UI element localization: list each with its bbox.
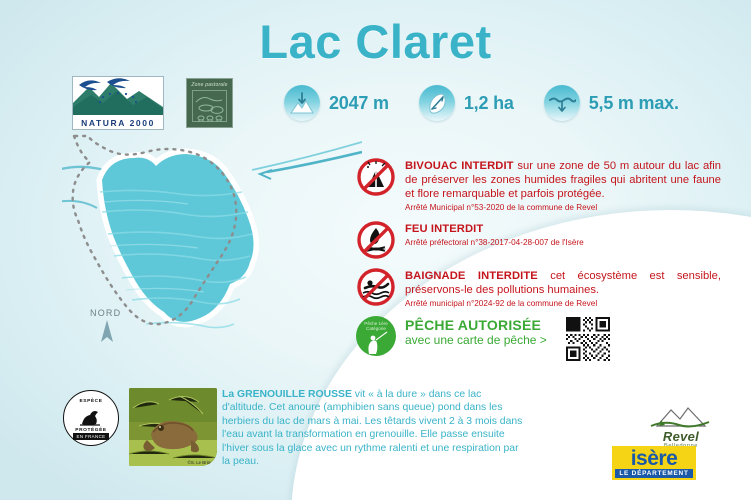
fishing-subtitle[interactable]: avec une carte de pêche > (405, 333, 547, 348)
frog-photo-illustration (129, 388, 217, 466)
altitude-mountain-icon (284, 85, 320, 121)
badges-row: NATURA 2000 Zone pastorale (72, 76, 233, 130)
rule-bivouac-reference: Arrêté Municipal n°53-2020 de la commune… (405, 202, 721, 213)
species-description: La GRENOUILLE ROUSSE vit « à la dure » d… (222, 388, 527, 468)
rule-fire-heading: FEU INTERDIT (405, 223, 483, 235)
pastoral-zone-label: Zone pastorale (190, 82, 229, 88)
no-bivouac-icon (356, 157, 396, 197)
page-title: Lac Claret (0, 14, 751, 69)
isere-departement-logo: isère LE DÉPARTEMENT (612, 446, 696, 480)
stamp-line-1: ESPÈCE (64, 399, 118, 404)
bird-silhouette-icon (78, 408, 104, 428)
fishing-title: PÊCHE AUTORISÉE (405, 317, 547, 333)
poster-root: Lac Claret NATURA 2000 Zone pastorale (0, 0, 751, 500)
stats-row: 2047 m 1,2 ha 5,5 m max. (284, 85, 679, 121)
pastoral-zone-illustration (192, 90, 227, 122)
no-swimming-icon (356, 267, 396, 307)
rule-bivouac-body: BIVOUAC INTERDIT sur une zone de 50 m au… (405, 157, 721, 213)
revel-belledonne-logo: Revel Belledonne (645, 404, 717, 449)
natura2000-logo: NATURA 2000 (72, 76, 164, 130)
fishing-row[interactable]: Pêche 1ère Catégorie PÊCHE AUTORISÉE ave… (356, 316, 721, 361)
isere-subtitle: LE DÉPARTEMENT (615, 469, 693, 478)
rule-fire-body: FEU INTERDIT Arrêté préfectoral n°38-201… (405, 220, 584, 260)
fishing-badge-line1: Pêche 1ère (364, 321, 388, 326)
rule-swimming: BAIGNADE INTERDITE cet écosystème est se… (356, 267, 721, 309)
stream-west-2 (62, 201, 97, 208)
photo-credit: ©S. Le Briquir (188, 460, 215, 465)
compass-label: NORD (90, 308, 121, 318)
fishing-allowed-badge: Pêche 1ère Catégorie (356, 316, 396, 356)
stat-surface-value: 1,2 ha (464, 93, 514, 114)
rule-fire-text: FEU INTERDIT (405, 222, 584, 236)
rule-swimming-text: BAIGNADE INTERDITE cet écosystème est se… (405, 269, 721, 297)
sheep-herd-icon (193, 91, 230, 125)
rules-section: BIVOUAC INTERDIT sur une zone de 50 m au… (356, 157, 721, 361)
qr-code[interactable] (566, 317, 610, 361)
stat-depth: 5,5 m max. (544, 85, 679, 121)
rule-fire: FEU INTERDIT Arrêté préfectoral n°38-201… (356, 220, 721, 260)
species-text: vit « à la dure » dans ce lac d'altitude… (222, 389, 522, 467)
stat-depth-value: 5,5 m max. (589, 93, 679, 114)
no-fire-icon (356, 220, 396, 260)
stamp-bar: EN FRANCE (73, 433, 109, 440)
stat-altitude-value: 2047 m (329, 93, 389, 114)
revel-mountain-icon (647, 404, 715, 430)
frog-photo: ©S. Le Briquir (129, 388, 217, 466)
revel-name: Revel (645, 429, 717, 444)
lake-map: NORD (62, 130, 362, 380)
stat-surface: 1,2 ha (419, 85, 514, 121)
angler-icon (356, 330, 396, 356)
rule-swimming-heading: BAIGNADE INTERDITE (405, 270, 538, 282)
flow-arrow (260, 170, 272, 179)
rule-bivouac-heading: BIVOUAC INTERDIT (405, 160, 514, 172)
natura2000-label: NATURA 2000 (73, 118, 163, 128)
surface-area-icon (419, 85, 455, 121)
rule-bivouac-text: BIVOUAC INTERDIT sur une zone de 50 m au… (405, 159, 721, 201)
protected-species-stamp: ESPÈCE PROTÉGÉE EN FRANCE (63, 390, 119, 446)
natura2000-icon (73, 77, 163, 115)
isere-name: isère (615, 448, 693, 469)
stat-altitude: 2047 m (284, 85, 389, 121)
rule-fire-reference: Arrêté préfectoral n°38-2017-04-28-007 d… (405, 237, 584, 248)
rule-swimming-body: BAIGNADE INTERDITE cet écosystème est se… (405, 267, 721, 309)
species-heading: La GRENOUILLE ROUSSE (222, 389, 352, 400)
pastoral-zone-badge: Zone pastorale (186, 78, 233, 128)
depth-water-icon (544, 85, 580, 121)
compass-arrow-icon (100, 320, 114, 344)
rule-bivouac: BIVOUAC INTERDIT sur une zone de 50 m au… (356, 157, 721, 213)
fishing-text-block: PÊCHE AUTORISÉE avec une carte de pêche … (405, 316, 547, 348)
rule-swimming-reference: Arrêté municipal n°2024-92 de la commune… (405, 298, 721, 309)
